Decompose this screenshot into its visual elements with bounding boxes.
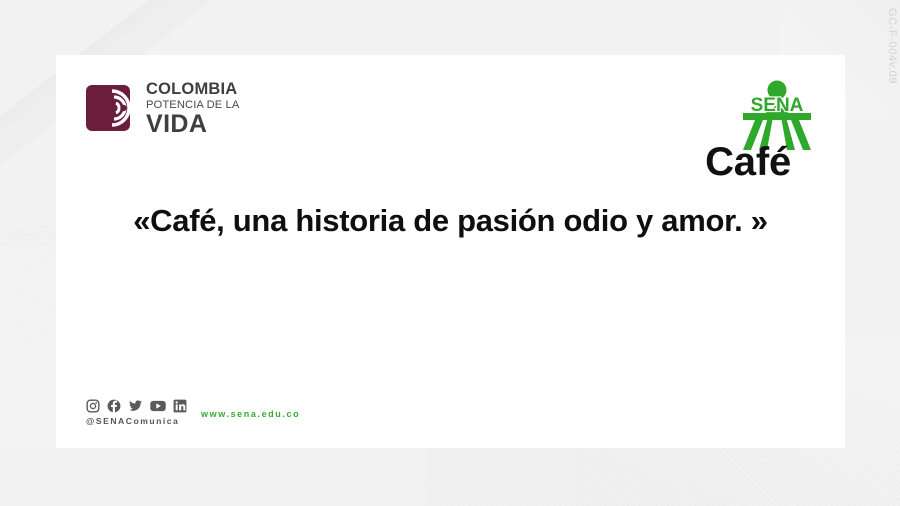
colombia-emblem-icon: [86, 83, 138, 133]
content-card: COLOMBIA POTENCIA DE LA VIDA SENA Café «…: [56, 55, 845, 448]
social-icon-row: [86, 399, 187, 413]
twitter-icon[interactable]: [128, 399, 143, 413]
quote-text: «Café, una historia de pasión odio y amo…: [56, 203, 845, 239]
social-block: @SENAComunica: [86, 399, 187, 426]
social-handle: @SENAComunica: [86, 416, 187, 426]
colombia-line-colombia: COLOMBIA: [146, 81, 239, 98]
bg-band-bottom: [0, 448, 900, 506]
slide-root: GC-F-004v.09 COLOMBIA POTENCIA DE LA VID…: [0, 0, 900, 506]
colombia-line-vida: VIDA: [146, 112, 239, 137]
instagram-icon[interactable]: [86, 399, 100, 413]
sena-logo-text: SENA: [751, 95, 804, 116]
card-footer: @SENAComunica www.sena.edu.co: [86, 399, 300, 426]
document-code-label: GC-F-004v.09: [886, 8, 898, 84]
youtube-icon[interactable]: [150, 399, 166, 413]
linkedin-icon[interactable]: [173, 399, 187, 413]
facebook-icon[interactable]: [107, 399, 121, 413]
page-title: Café: [56, 140, 791, 185]
colombia-wordmark: COLOMBIA POTENCIA DE LA VIDA: [146, 80, 239, 137]
website-url[interactable]: www.sena.edu.co: [201, 409, 300, 419]
colombia-logo: COLOMBIA POTENCIA DE LA VIDA: [86, 80, 239, 137]
